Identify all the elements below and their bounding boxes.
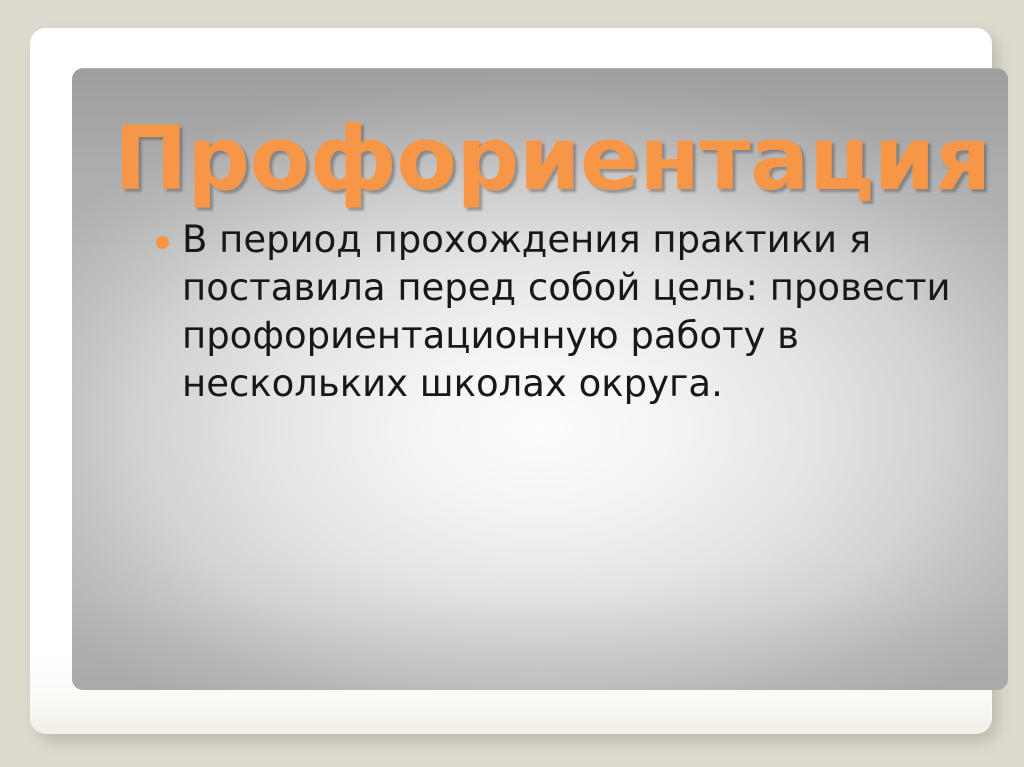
slide-viewport: Профориентация В период прохождения прак… [0, 0, 1024, 767]
slide-body: В период прохождения практики я поставил… [112, 216, 972, 408]
slide-card: Профориентация В период прохождения прак… [30, 28, 992, 734]
bullet-dot-icon [156, 236, 169, 249]
slide-title: Профориентация [114, 112, 974, 205]
bullet-text: В период прохождения практики я поставил… [182, 218, 951, 405]
list-item: В период прохождения практики я поставил… [112, 216, 972, 408]
slide-content-plate: Профориентация В период прохождения прак… [72, 68, 1008, 690]
plate-bottom-gradient-overlay [72, 560, 1008, 690]
